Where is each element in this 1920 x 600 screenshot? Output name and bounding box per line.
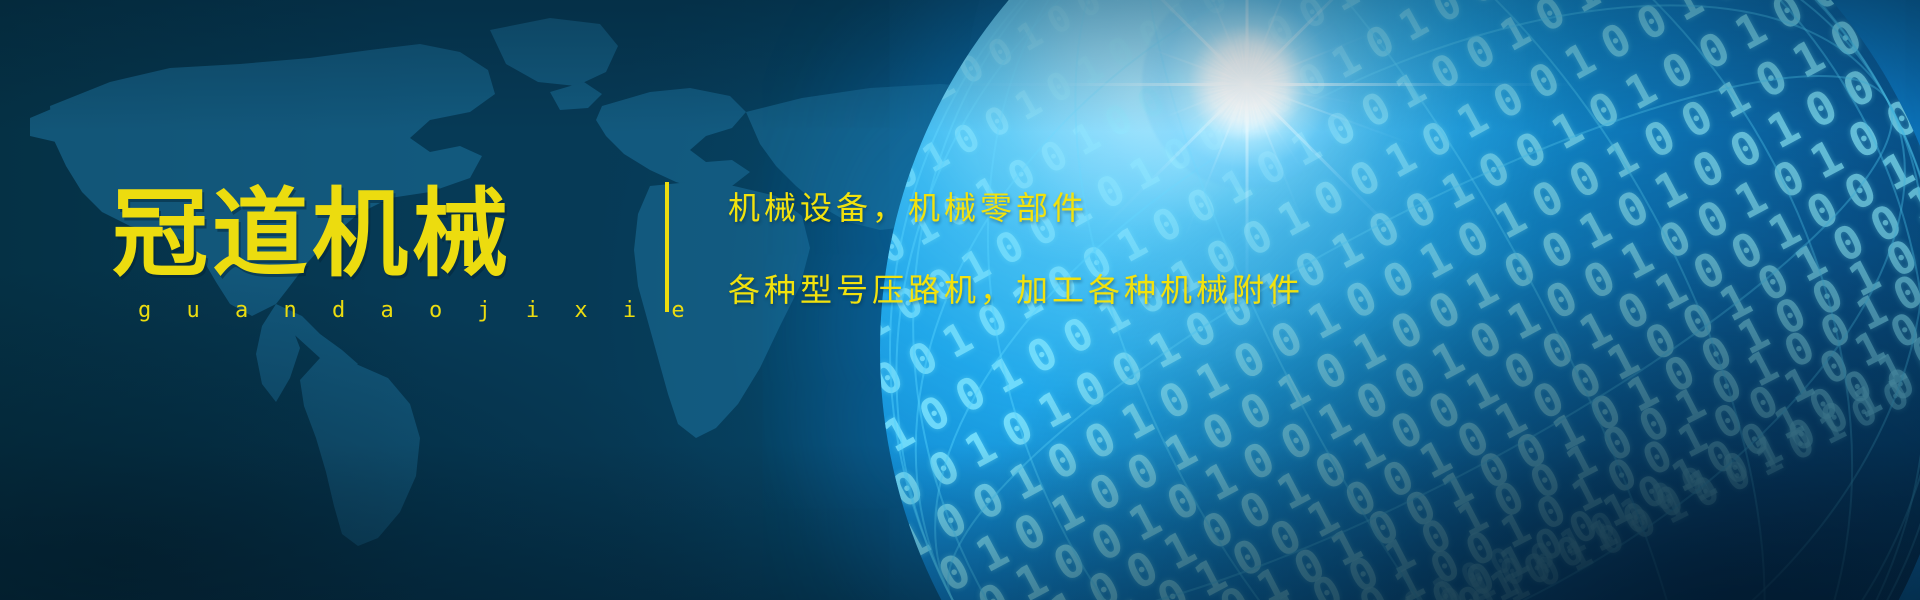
company-name-pinyin: g u a n d a o j i x i e — [112, 298, 542, 323]
banner-content: 冠道机械 g u a n d a o j i x i e 机械设备，机械零部件 … — [0, 0, 1920, 600]
vertical-divider — [665, 182, 669, 312]
slogan-line-1: 机械设备，机械零部件 — [728, 192, 1304, 224]
website-hero-banner: 0100100101001001010010010100100101001001… — [0, 0, 1920, 600]
company-name-zh: 冠道机械 — [112, 186, 542, 282]
slogan-group: 机械设备，机械零部件 各种型号压路机，加工各种机械附件 — [728, 192, 1304, 306]
slogan-line-2: 各种型号压路机，加工各种机械附件 — [728, 274, 1304, 306]
company-logo[interactable]: 冠道机械 g u a n d a o j i x i e — [112, 186, 542, 323]
